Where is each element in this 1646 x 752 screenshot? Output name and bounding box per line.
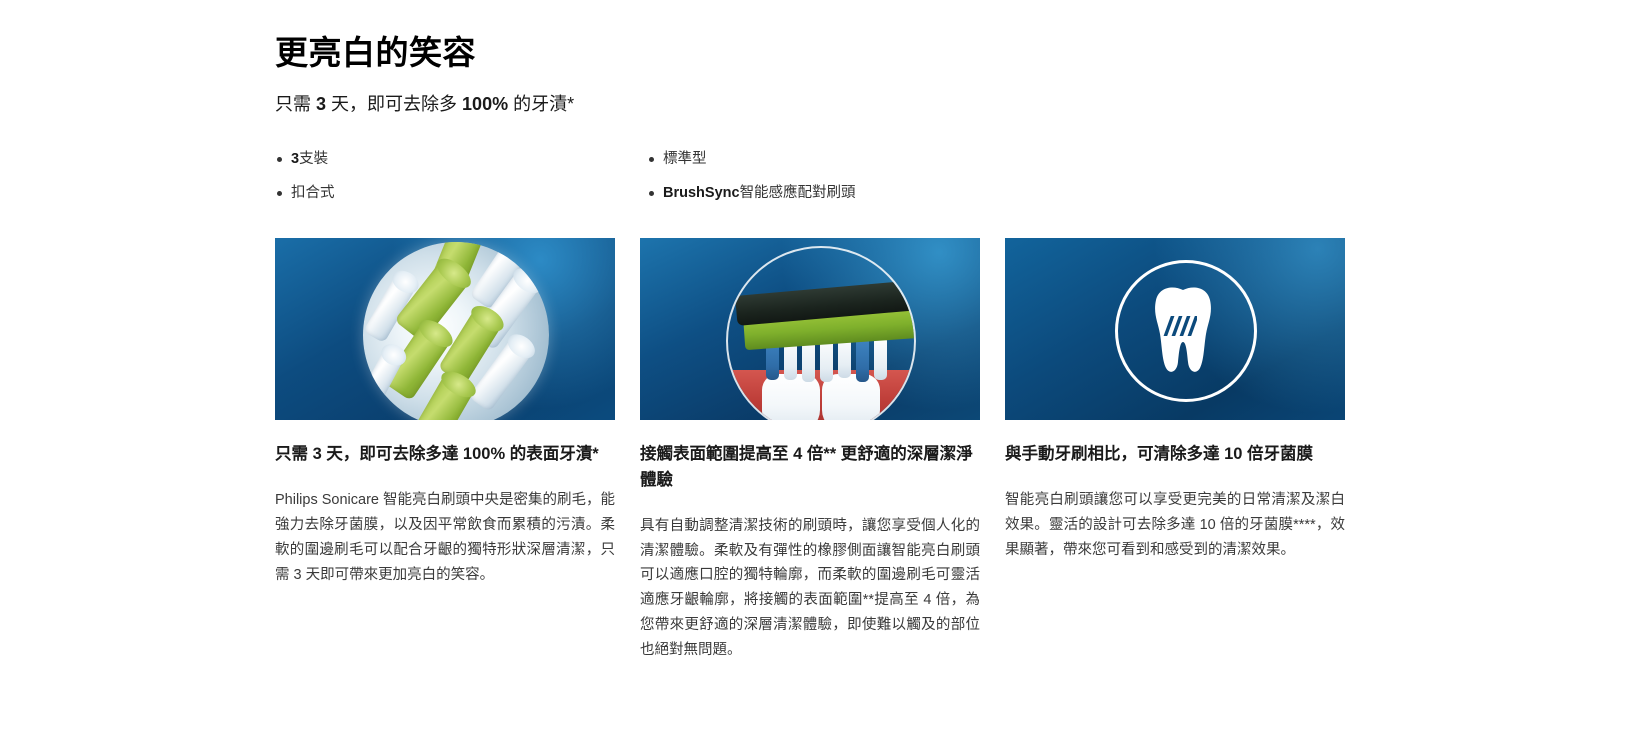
list-item: BrushSync 智能感應配對刷頭: [647, 176, 995, 210]
white-bristle-column: [874, 338, 887, 380]
tooth-plaque-icon-image: [1005, 238, 1345, 420]
feature-card: 只需 3 天，即可去除多達 100% 的表面牙漬* Philips Sonica…: [275, 238, 615, 663]
card-heading: 接觸表面範圍提高至 4 倍** 更舒適的深層潔淨體驗: [640, 420, 980, 493]
circular-vignette: [363, 242, 549, 420]
feature-card: 接觸表面範圍提高至 4 倍** 更舒適的深層潔淨體驗 具有自動調整清潔技術的刷頭…: [640, 238, 980, 663]
list-item: 標準型: [647, 142, 995, 176]
card-heading: 只需 3 天，即可去除多達 100% 的表面牙漬*: [275, 420, 615, 468]
page-title: 更亮白的笑容: [275, 0, 1345, 73]
circular-outline-frame: [726, 246, 916, 420]
list-item: 扣合式: [275, 176, 623, 210]
list-item: 3 支裝: [275, 142, 623, 176]
feature-bullet-list: 3 支裝 扣合式 標準型 BrushSync 智能感應配對刷頭: [275, 117, 995, 210]
card-heading: 與手動牙刷相比，可清除多達 10 倍牙菌膜: [1005, 420, 1345, 468]
card-body-text: Philips Sonicare 智能亮白刷頭中央是密集的刷毛，能強力去除牙菌膜…: [275, 468, 615, 588]
section-subtitle: 只需 3 天，即可去除多 100% 的牙漬*: [275, 73, 1345, 117]
card-body-text: 具有自動調整清潔技術的刷頭時，讓您享受個人化的清潔體驗。柔軟及有彈性的橡膠側面讓…: [640, 494, 980, 664]
plaque-stripes-icon: [1163, 316, 1197, 336]
content-container: 更亮白的笑容 只需 3 天，即可去除多 100% 的牙漬* 3 支裝 扣合式 標…: [275, 0, 1345, 663]
bristles-closeup-image: [275, 238, 615, 420]
feature-card: 與手動牙刷相比，可清除多達 10 倍牙菌膜 智能亮白刷頭讓您可以享受更完美的日常…: [1005, 238, 1345, 663]
blue-bristle-column: [856, 336, 869, 382]
card-body-text: 智能亮白刷頭讓您可以享受更完美的日常清潔及潔白效果。靈活的設計可去除多達 10 …: [1005, 468, 1345, 563]
product-feature-section: 更亮白的笑容 只需 3 天，即可去除多 100% 的牙漬* 3 支裝 扣合式 標…: [0, 0, 1646, 752]
feature-card-list: 只需 3 天，即可去除多達 100% 的表面牙漬* Philips Sonica…: [275, 210, 1345, 663]
brush-head-on-teeth-image: [640, 238, 980, 420]
tooth-shape: [822, 374, 880, 420]
